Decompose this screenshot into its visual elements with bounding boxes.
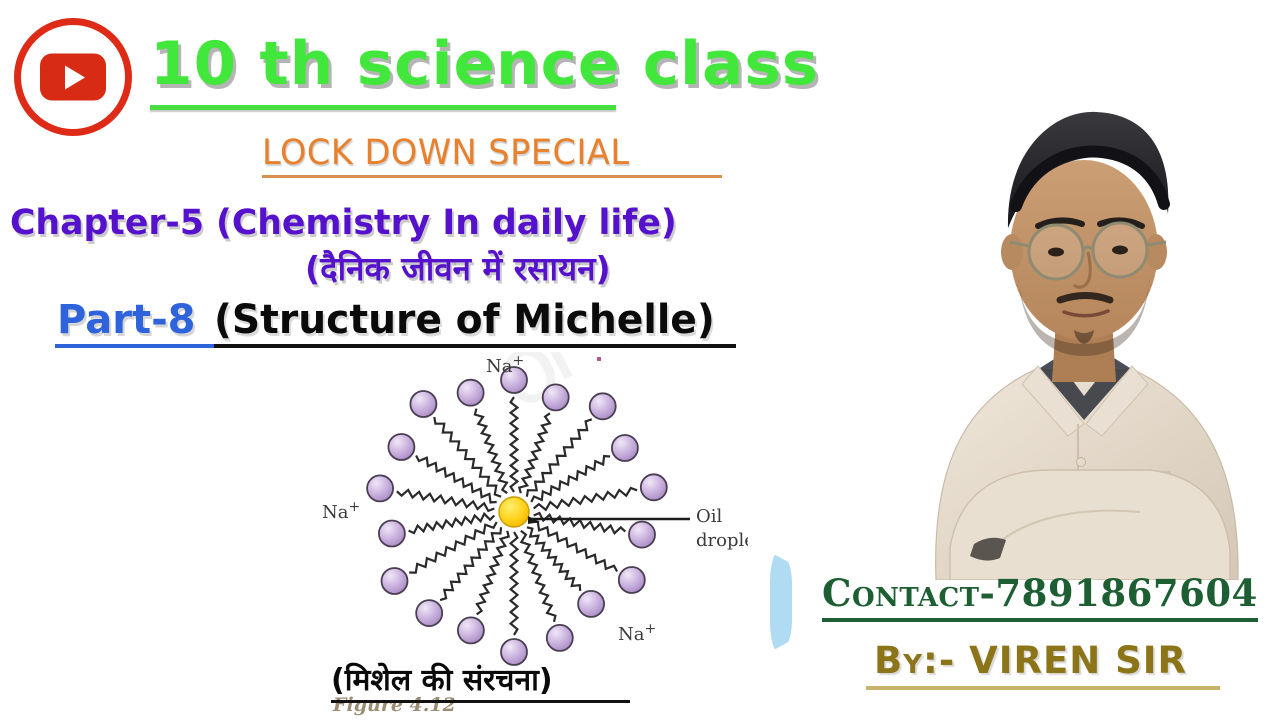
surfactant-tail [477, 531, 509, 615]
part-label-underline [55, 344, 215, 348]
thumbnail-canvas: 10 th science class LOCK DOWN SPECIAL Ch… [0, 0, 1280, 720]
chapter-title: Chapter-5 (Chemistry In daily life) [10, 203, 677, 243]
label-oil-droplet-line2: droplet [696, 530, 748, 551]
page-title-underline [150, 105, 616, 110]
surfactant-head [578, 591, 604, 617]
surfactant-tail [409, 514, 495, 533]
instructor-photo [888, 0, 1280, 580]
contact-underline [822, 618, 1258, 622]
byline-underline [866, 686, 1220, 690]
surfactant-head [612, 435, 638, 461]
topic-title-underline [214, 344, 736, 348]
surfactant-head [641, 474, 667, 500]
contact-line[interactable]: Contact-7891867604 [822, 572, 1258, 614]
oil-droplet-core [499, 497, 529, 527]
figure-number: Figure 4.12 [333, 694, 456, 716]
surfactant-tail [534, 488, 637, 510]
shirt-button-1 [1077, 458, 1086, 467]
crossed-arms [950, 470, 1230, 580]
eye-left [1048, 248, 1064, 257]
surfactant-head [367, 475, 393, 501]
chapter-title-hindi: (दैनिक जीवन में रसायन) [305, 249, 611, 289]
surfactant-head [388, 434, 414, 460]
byline: By:- VIREN SIR [874, 640, 1187, 682]
label-oil-droplet-line1: Oil [696, 506, 723, 527]
surfactant-head [543, 384, 569, 410]
surfactant-head [458, 380, 484, 406]
surfactant-head [382, 568, 408, 594]
surfactant-tail [511, 532, 518, 635]
subtitle-underline [262, 175, 722, 178]
ear-left [1001, 234, 1023, 270]
micelle-diagram: o f t Oil droplet Na+ Na+ Na+ [318, 352, 748, 670]
eye-right [1112, 246, 1128, 255]
figure-caption-hindi: (मिशेल की संरचना) [331, 664, 553, 698]
label-na-left: Na+ [322, 499, 360, 523]
surfactant-head [501, 639, 527, 665]
blue-crescent-artifact [770, 552, 792, 652]
part-label: Part-8 [57, 298, 196, 342]
stray-dot [597, 357, 601, 361]
surfactant-tail [397, 490, 495, 511]
surfactant-head [629, 522, 655, 548]
surfactant-head [547, 625, 573, 651]
surfactant-head [416, 600, 442, 626]
surfactant-tail [527, 527, 580, 591]
surfactant-head [379, 521, 405, 547]
figure-caption-underline [331, 700, 630, 703]
surfactant-head [410, 391, 436, 417]
youtube-rect [40, 54, 106, 101]
surfactant-head [590, 393, 616, 419]
surfactant-head [458, 617, 484, 643]
subtitle-lockdown: LOCK DOWN SPECIAL [262, 134, 630, 172]
youtube-play-icon [14, 18, 132, 136]
label-na-bottom-right: Na+ [618, 621, 656, 645]
play-triangle-icon [65, 65, 85, 89]
surfactant-tail [475, 409, 507, 494]
page-title: 10 th science class [150, 32, 819, 96]
topic-title: (Structure of Michelle) [214, 298, 715, 342]
surfactant-head [619, 567, 645, 593]
